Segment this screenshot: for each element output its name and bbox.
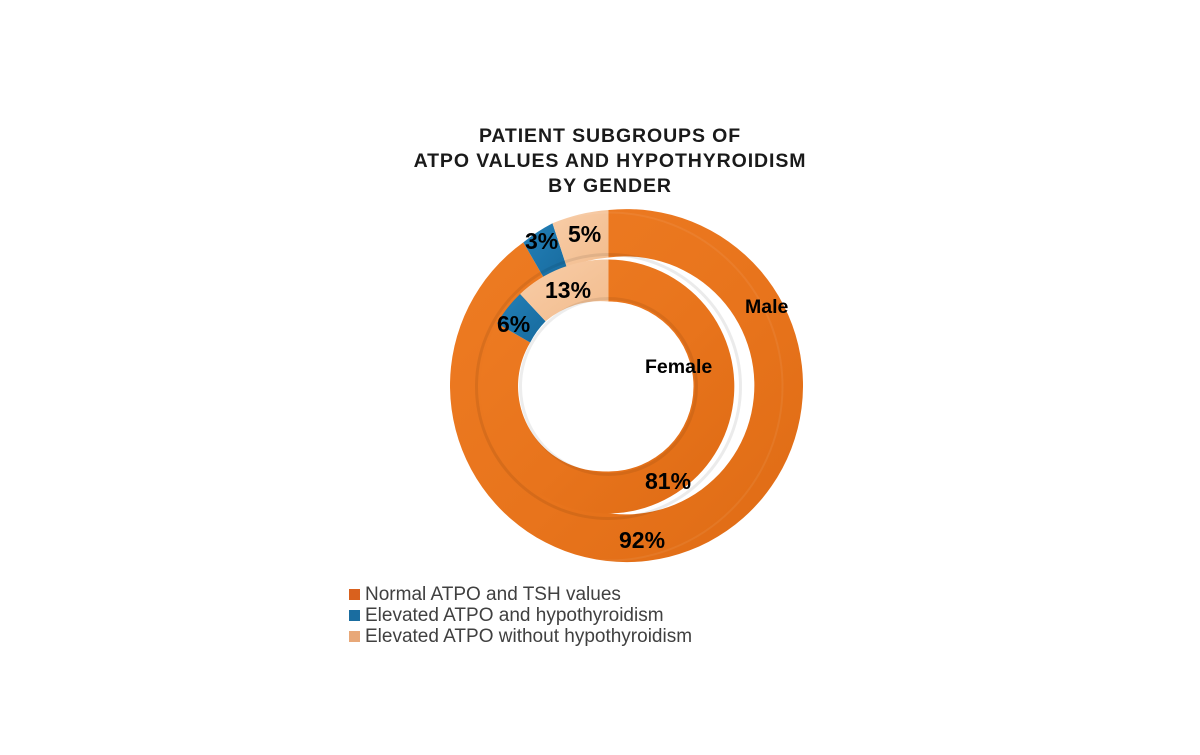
legend-label: Elevated ATPO without hypothyroidism [365,626,692,647]
inner-label-normal: 81% [645,468,691,495]
outer-label-normal: 92% [619,527,665,554]
legend-label: Elevated ATPO and hypothyroidism [365,605,664,626]
legend-item-elevated-hypothyroidism[interactable]: Elevated ATPO and hypothyroidism [349,605,692,626]
legend-swatch-icon [349,610,360,621]
legend-label: Normal ATPO and TSH values [365,584,621,605]
inner-label-elevated-hypothyroidism: 6% [497,311,530,338]
outer-label-elevated-no-hypothyroidism: 5% [568,221,601,248]
outer-ring-name-label: Male [745,296,788,319]
chart-legend: Normal ATPO and TSH values Elevated ATPO… [349,584,692,647]
inner-label-elevated-no-hypothyroidism: 13% [545,277,591,304]
inner-ring-name-label: Female [645,356,712,379]
legend-swatch-icon [349,631,360,642]
legend-item-elevated-no-hypothyroidism[interactable]: Elevated ATPO without hypothyroidism [349,626,692,647]
outer-label-elevated-hypothyroidism: 3% [525,228,558,255]
legend-swatch-icon [349,589,360,600]
legend-item-normal[interactable]: Normal ATPO and TSH values [349,584,692,605]
donut-hole [524,302,694,472]
chart-figure: PATIENT SUBGROUPS OF ATPO VALUES AND HYP… [0,0,1200,755]
